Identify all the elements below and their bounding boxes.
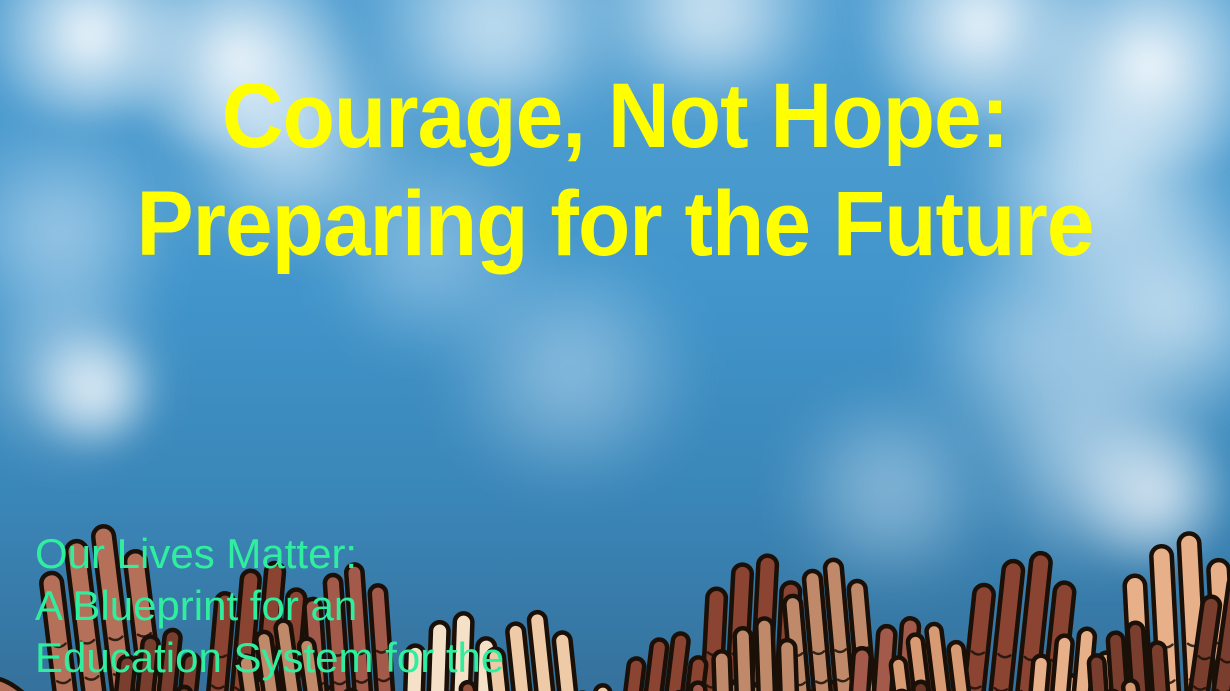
- slide-subtitle: Our Lives Matter: A Blueprint for an Edu…: [35, 528, 504, 684]
- subtitle-line-2: A Blueprint for an: [35, 580, 504, 632]
- title-slide: Courage, Not Hope: Preparing for the Fut…: [0, 0, 1230, 691]
- subtitle-line-3: Education System for the: [35, 632, 504, 684]
- subtitle-line-1: Our Lives Matter:: [35, 528, 504, 580]
